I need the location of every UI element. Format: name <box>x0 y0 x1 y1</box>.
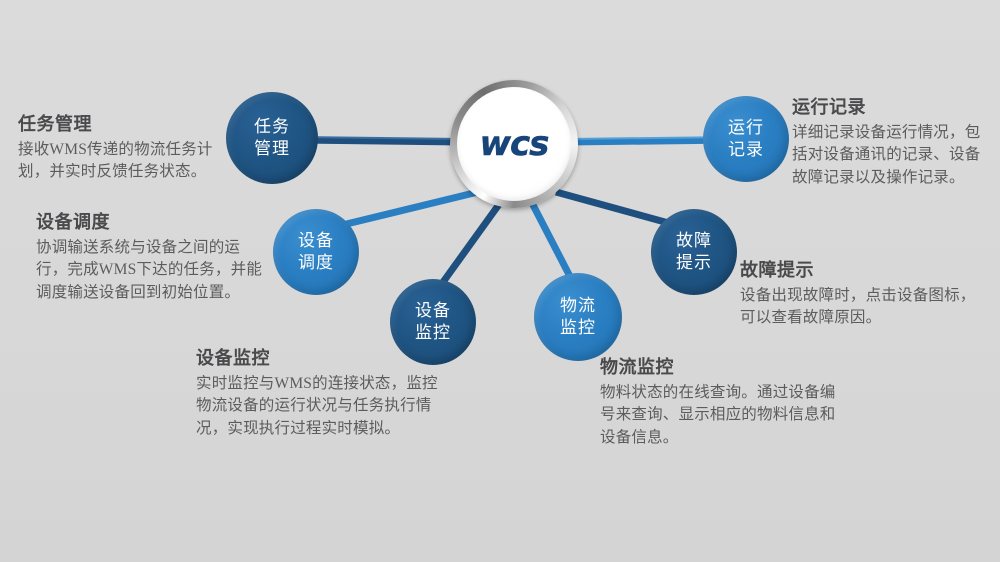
caption-fault-alert: 故障提示 设备出现故障时，点击设备图标，可以查看故障原因。 <box>740 256 985 330</box>
node-fault-alert[interactable]: 故障 提示 <box>651 209 737 295</box>
caption-equipment-monitoring-title: 设备监控 <box>196 344 451 370</box>
node-operation-log[interactable]: 运行 记录 <box>703 96 789 182</box>
node-logistics-monitoring-line1: 物流 <box>560 295 596 317</box>
node-task-management[interactable]: 任务 管理 <box>226 92 318 184</box>
caption-equipment-scheduling-body: 协调输送系统与设备之间的运行，完成WMS下达的任务，并能调度输送设备回到初始位置… <box>36 237 266 304</box>
node-task-management-line1: 任务 <box>254 116 290 138</box>
caption-equipment-monitoring-body: 实时监控与WMS的连接状态，监控物流设备的运行状况与任务执行情况，实现执行过程实… <box>196 373 451 440</box>
node-operation-log-line2: 记录 <box>728 139 764 161</box>
connector-task-management-highlight <box>298 137 462 139</box>
caption-equipment-scheduling: 设备调度 协调输送系统与设备之间的运行，完成WMS下达的任务，并能调度输送设备回… <box>36 208 266 304</box>
caption-equipment-monitoring: 设备监控 实时监控与WMS的连接状态，监控物流设备的运行状况与任务执行情况，实现… <box>196 344 451 440</box>
center-hub-label: WCS <box>480 124 549 164</box>
caption-task-management: 任务管理 接收WMS传递的物流任务计划，并实时反馈任务状态。 <box>18 110 226 184</box>
node-operation-log-line1: 运行 <box>728 117 764 139</box>
node-equipment-scheduling-line2: 调度 <box>298 252 334 274</box>
caption-operation-log-title: 运行记录 <box>792 93 995 119</box>
caption-logistics-monitoring-body: 物料状态的在线查询。通过设备编号来查询、显示相应的物料信息和设备信息。 <box>600 382 850 449</box>
node-logistics-monitoring-line2: 监控 <box>560 317 596 339</box>
caption-logistics-monitoring: 物流监控 物料状态的在线查询。通过设备编号来查询、显示相应的物料信息和设备信息。 <box>600 353 850 449</box>
caption-operation-log: 运行记录 详细记录设备运行情况，包括对设备通讯的记录、设备故障记录以及操作记录。 <box>792 93 995 189</box>
node-fault-alert-line2: 提示 <box>676 252 712 274</box>
caption-equipment-scheduling-title: 设备调度 <box>36 208 266 234</box>
diagram-canvas: 任务 管理 设备 调度 设备 监控 物流 监控 故障 提示 运行 记录 WCS … <box>0 0 1000 562</box>
node-equipment-monitoring-line1: 设备 <box>415 300 451 322</box>
caption-task-management-title: 任务管理 <box>18 110 226 136</box>
node-fault-alert-line1: 故障 <box>676 230 712 252</box>
node-task-management-line2: 管理 <box>254 138 290 160</box>
node-equipment-scheduling[interactable]: 设备 调度 <box>273 209 359 295</box>
caption-fault-alert-body: 设备出现故障时，点击设备图标，可以查看故障原因。 <box>740 285 985 330</box>
node-logistics-monitoring[interactable]: 物流 监控 <box>534 273 622 361</box>
caption-task-management-body: 接收WMS传递的物流任务计划，并实时反馈任务状态。 <box>18 139 226 184</box>
connector-task-management <box>298 140 462 142</box>
center-hub[interactable]: WCS <box>457 87 571 201</box>
connector-equipment-scheduling <box>330 192 478 228</box>
node-equipment-scheduling-line1: 设备 <box>298 230 334 252</box>
caption-logistics-monitoring-title: 物流监控 <box>600 353 850 379</box>
caption-operation-log-body: 详细记录设备运行情况，包括对设备通讯的记录、设备故障记录以及操作记录。 <box>792 122 995 189</box>
caption-fault-alert-title: 故障提示 <box>740 256 985 282</box>
node-equipment-monitoring-line2: 监控 <box>415 322 451 344</box>
